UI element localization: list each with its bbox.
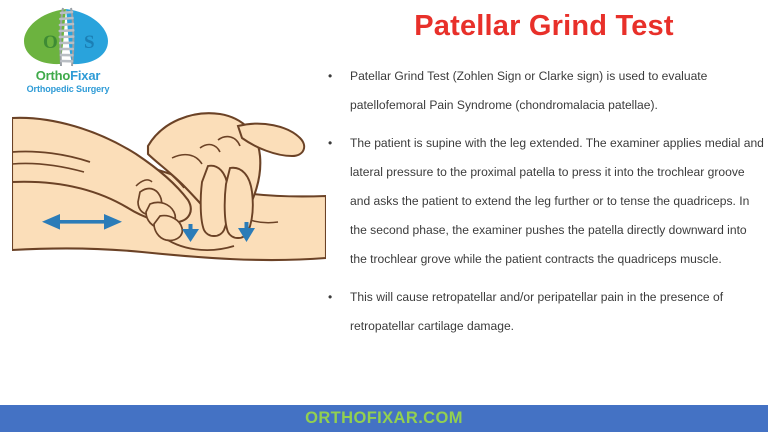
brand-name: OrthoFixar [8,68,128,83]
brand-name-part1: Ortho [36,68,70,83]
bullet-text: The patient is supine with the leg exten… [350,129,765,274]
footer-website-text: ORTHOFIXAR.COM [0,405,768,432]
bullet-marker: • [325,283,350,312]
orthofixar-logo-icon: O S [16,6,116,68]
bullet-marker: • [325,62,350,91]
brand-logo: O S OrthoFixar Orthopedic Surgery [8,4,128,104]
brand-name-part2: Fixar [70,68,100,83]
content-panel: Patellar Grind Test • Patellar Grind Tes… [320,0,768,400]
bullet-list: • Patellar Grind Test (Zohlen Sign or Cl… [325,62,765,350]
footer-bar: ORTHOFIXAR.COM [0,405,768,432]
page-title: Patellar Grind Test [320,10,768,43]
bullet-text: Patellar Grind Test (Zohlen Sign or Clar… [350,62,765,120]
brand-tagline: Orthopedic Surgery [8,84,128,94]
list-item: • Patellar Grind Test (Zohlen Sign or Cl… [325,62,765,120]
bullet-marker: • [325,129,350,158]
logo-letter-s: S [84,32,95,53]
list-item: • The patient is supine with the leg ext… [325,129,765,274]
patellar-grind-test-illustration [12,108,326,306]
middle-finger [225,168,253,238]
bullet-text: This will cause retropatellar and/or per… [350,283,765,341]
logo-letter-o: O [43,32,58,53]
list-item: • This will cause retropatellar and/or p… [325,283,765,341]
